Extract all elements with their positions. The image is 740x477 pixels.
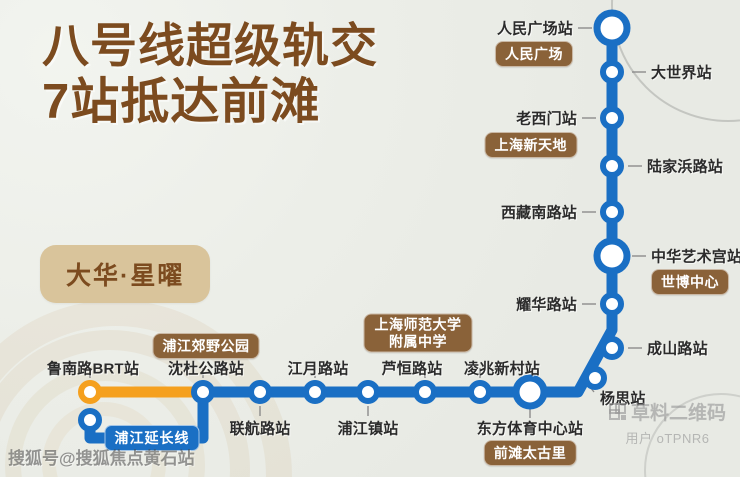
station-dot-pujiangzhen[interactable] (359, 383, 377, 401)
station-label-lujiabang[interactable]: 陆家浜路站 (647, 156, 723, 177)
watermark-qr-block: 草料二维码 用户 oTPNR6 (609, 398, 726, 447)
station-tag-pujiang-jiaoye-gongyuan: 浦江郊野公园 (153, 333, 260, 359)
station-tag-line-2: 附属中学 (389, 333, 447, 349)
station-label-yaohua[interactable]: 耀华路站 (516, 294, 577, 315)
station-dot-dongfang-tiyu[interactable] (516, 378, 544, 406)
poster-root: 八号线超级轨交 7站抵达前滩 大华·星曜 (0, 0, 740, 477)
station-dot-laoximen[interactable] (603, 109, 621, 127)
station-label-xizangnan[interactable]: 西藏南路站 (501, 202, 577, 223)
station-dot-lianhang[interactable] (251, 383, 269, 401)
station-dot-yangsi[interactable] (586, 369, 604, 387)
watermark-qr-title: 草料二维码 (631, 398, 726, 425)
station-label-dongfang-tiyu[interactable]: 东方体育中心站 (477, 418, 583, 439)
station-label-laoximen[interactable]: 老西门站 (516, 108, 577, 129)
station-label-chengshan[interactable]: 成山路站 (647, 338, 708, 359)
brand-badge: 大华·星曜 (40, 245, 210, 303)
station-dot-yaohua[interactable] (603, 295, 621, 313)
station-label-dashijie[interactable]: 大世界站 (651, 62, 712, 83)
headline-block: 八号线超级轨交 7站抵达前滩 (42, 22, 378, 128)
station-label-luheng[interactable]: 芦恒路站 (382, 358, 443, 379)
station-dot-shendu-gonglu[interactable] (194, 383, 212, 401)
station-label-pujiangzhen[interactable]: 浦江镇站 (338, 418, 399, 439)
station-dot-jiangyue[interactable] (306, 383, 324, 401)
station-label-shendu-gonglu[interactable]: 沈杜公路站 (168, 358, 244, 379)
station-dot-chengshan[interactable] (603, 339, 621, 357)
station-dot-renmin-guangchang[interactable] (597, 13, 627, 43)
station-label-zhonghua-yishugong[interactable]: 中华艺术宫站 (651, 246, 740, 267)
station-dot-pujiang-extension-terminus[interactable] (81, 411, 99, 429)
station-dot-dashijie[interactable] (603, 63, 621, 81)
watermark-qr-title-row: 草料二维码 (609, 398, 726, 425)
station-tag-shanghai-xintiandi: 上海新天地 (485, 132, 578, 158)
station-dot-xizangnan[interactable] (603, 203, 621, 221)
station-tag-qiantan-taikooli: 前滩太古里 (484, 440, 577, 466)
station-label-lianhang[interactable]: 联航路站 (230, 418, 291, 439)
station-label-jiangyue[interactable]: 江月路站 (288, 358, 349, 379)
headline-line-2: 7站抵达前滩 (42, 78, 378, 128)
station-dots-horizontal (81, 378, 544, 429)
station-dot-lingzhao[interactable] (471, 383, 489, 401)
watermark-qr-user: 用户 oTPNR6 (609, 428, 726, 447)
station-label-lingzhao[interactable]: 凌兆新村站 (464, 358, 540, 379)
station-tag-renmin-guangchang: 人民广场 (495, 41, 573, 67)
station-tag-shishida-fushu-zhongxue: 上海师范大学 附属中学 (364, 313, 473, 352)
station-tag-shibo-zhongxin: 世博中心 (651, 269, 729, 295)
station-tag-line-1: 上海师范大学 (375, 316, 462, 332)
station-dot-zhonghua-yishugong[interactable] (597, 241, 627, 271)
station-dot-lunan-brt[interactable] (81, 383, 99, 401)
station-label-renmin-guangchang[interactable]: 人民广场站 (497, 18, 573, 39)
qr-code-icon (609, 403, 626, 420)
watermark-sohu: 搜狐号@搜狐焦点黄石站 (8, 444, 195, 469)
station-dot-lujiabang[interactable] (603, 157, 621, 175)
station-label-lunan-brt[interactable]: 鲁南路BRT站 (47, 358, 139, 379)
station-dot-luheng[interactable] (416, 383, 434, 401)
headline-line-1: 八号线超级轨交 (42, 22, 378, 70)
